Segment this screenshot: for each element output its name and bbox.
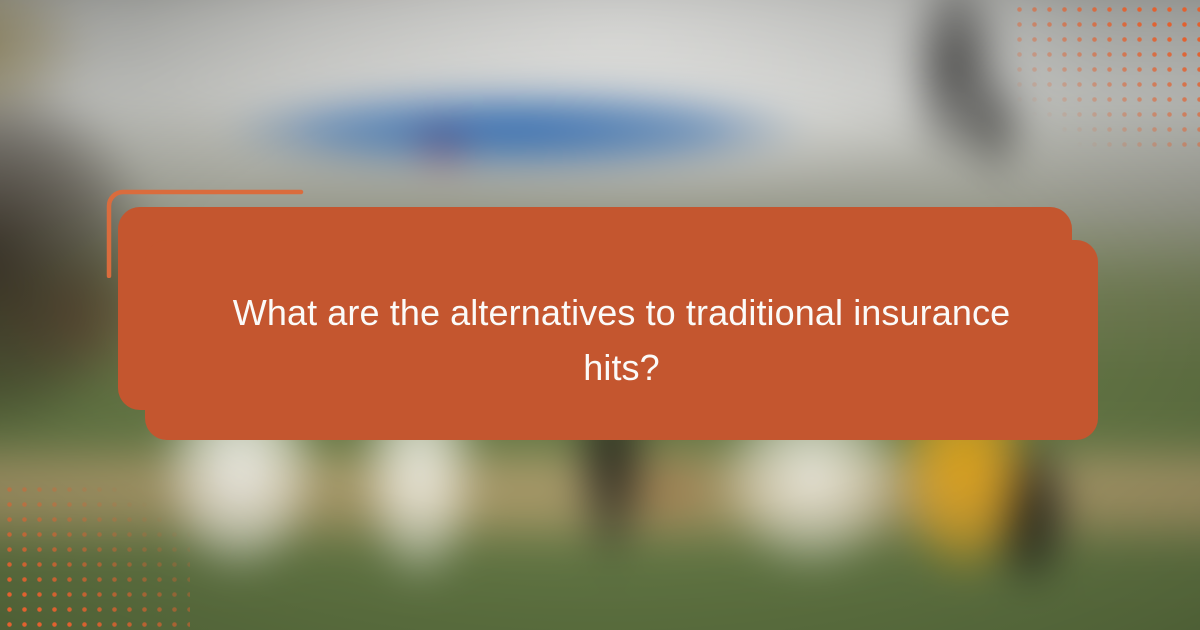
- question-card[interactable]: What are the alternatives to traditional…: [145, 240, 1098, 440]
- question-title: What are the alternatives to traditional…: [145, 240, 1098, 440]
- poster-canvas: What are the alternatives to traditional…: [0, 0, 1200, 630]
